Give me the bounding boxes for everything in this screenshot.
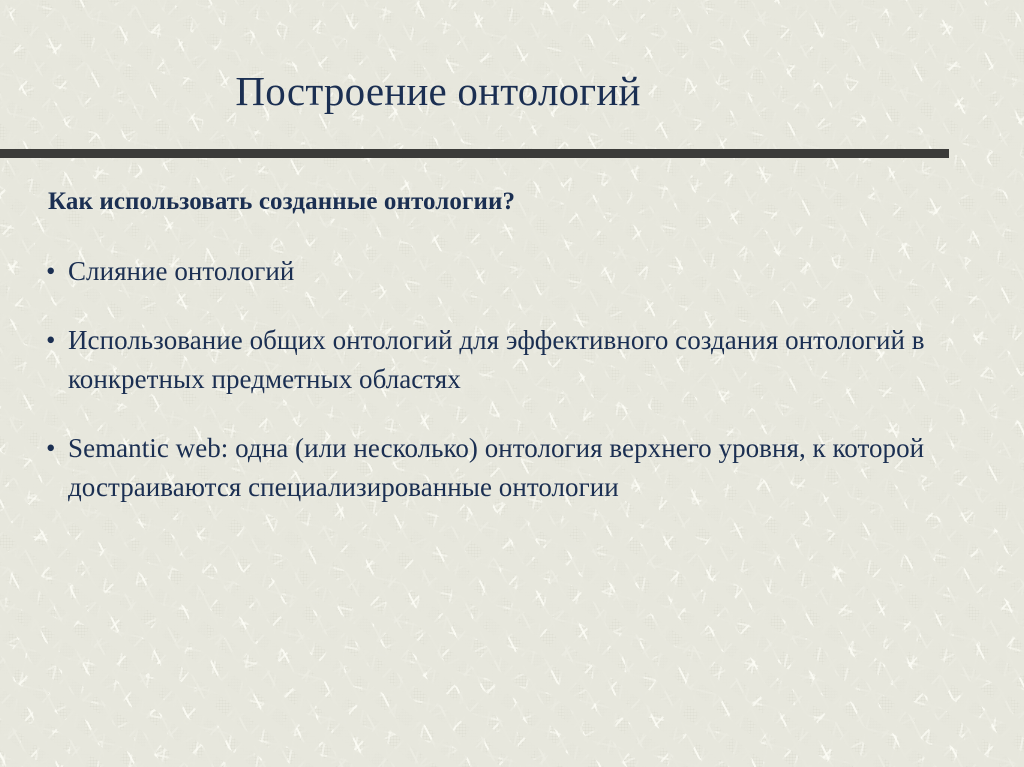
bullet-text-merge: Слияние онтологий [68, 252, 976, 291]
bullet-text-semantic-web: Semantic web: одна (или несколько) онтол… [68, 429, 948, 507]
list-item: • Semantic web: одна (или несколько) онт… [46, 429, 948, 507]
bullet-dot-icon: • [46, 252, 56, 291]
presentation-slide: Построение онтологий Как использовать со… [0, 0, 1024, 767]
slide-content: Построение онтологий Как использовать со… [0, 0, 1024, 767]
list-item: • Использование общих онтологий для эффе… [46, 321, 980, 399]
page-title: Построение онтологий [60, 66, 816, 116]
lead-question: Как использовать созданные онтологии? [48, 186, 976, 218]
title-divider-rule [0, 149, 949, 158]
bullet-dot-icon: • [46, 429, 56, 468]
list-item: • Слияние онтологий [46, 252, 976, 291]
slide-body: Как использовать созданные онтологии? • … [46, 186, 976, 507]
bullet-dot-icon: • [46, 321, 56, 360]
bullet-text-shared-ontologies: Использование общих онтологий для эффект… [68, 321, 980, 399]
